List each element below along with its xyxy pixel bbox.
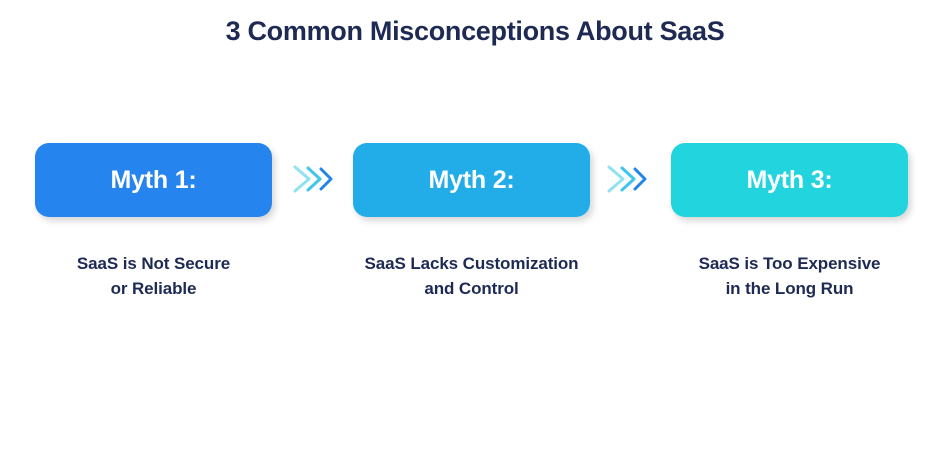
myth-caption-3: SaaS is Too Expensive in the Long Run bbox=[651, 252, 928, 301]
myth-caption-2: SaaS Lacks Customization and Control bbox=[333, 252, 610, 301]
myth-caption-2-line-1: SaaS Lacks Customization bbox=[365, 254, 579, 273]
myth-caption-1: SaaS is Not Secure or Reliable bbox=[15, 252, 292, 301]
triple-chevron-right-icon bbox=[606, 163, 654, 195]
myth-card-2-label: Myth 2: bbox=[428, 168, 514, 193]
triple-chevron-right-icon bbox=[292, 163, 340, 195]
myth-captions-row: SaaS is Not Secure or Reliable SaaS Lack… bbox=[0, 252, 950, 312]
myth-caption-1-line-1: SaaS is Not Secure bbox=[77, 254, 230, 273]
myth-caption-3-line-1: SaaS is Too Expensive bbox=[699, 254, 881, 273]
myth-card-3[interactable]: Myth 3: bbox=[671, 143, 908, 217]
myth-caption-1-line-2: or Reliable bbox=[111, 279, 197, 298]
myth-cards-row: Myth 1: Myth 2: Myth 3: bbox=[0, 143, 950, 217]
myth-card-3-label: Myth 3: bbox=[746, 168, 832, 193]
myth-card-1-label: Myth 1: bbox=[110, 168, 196, 193]
myth-caption-2-line-2: and Control bbox=[424, 279, 518, 298]
page-title: 3 Common Misconceptions About SaaS bbox=[0, 14, 950, 49]
myth-caption-3-line-2: in the Long Run bbox=[726, 279, 854, 298]
saas-misconceptions-infographic: 3 Common Misconceptions About SaaS Myth … bbox=[0, 0, 950, 450]
myth-card-1[interactable]: Myth 1: bbox=[35, 143, 272, 217]
myth-card-2[interactable]: Myth 2: bbox=[353, 143, 590, 217]
